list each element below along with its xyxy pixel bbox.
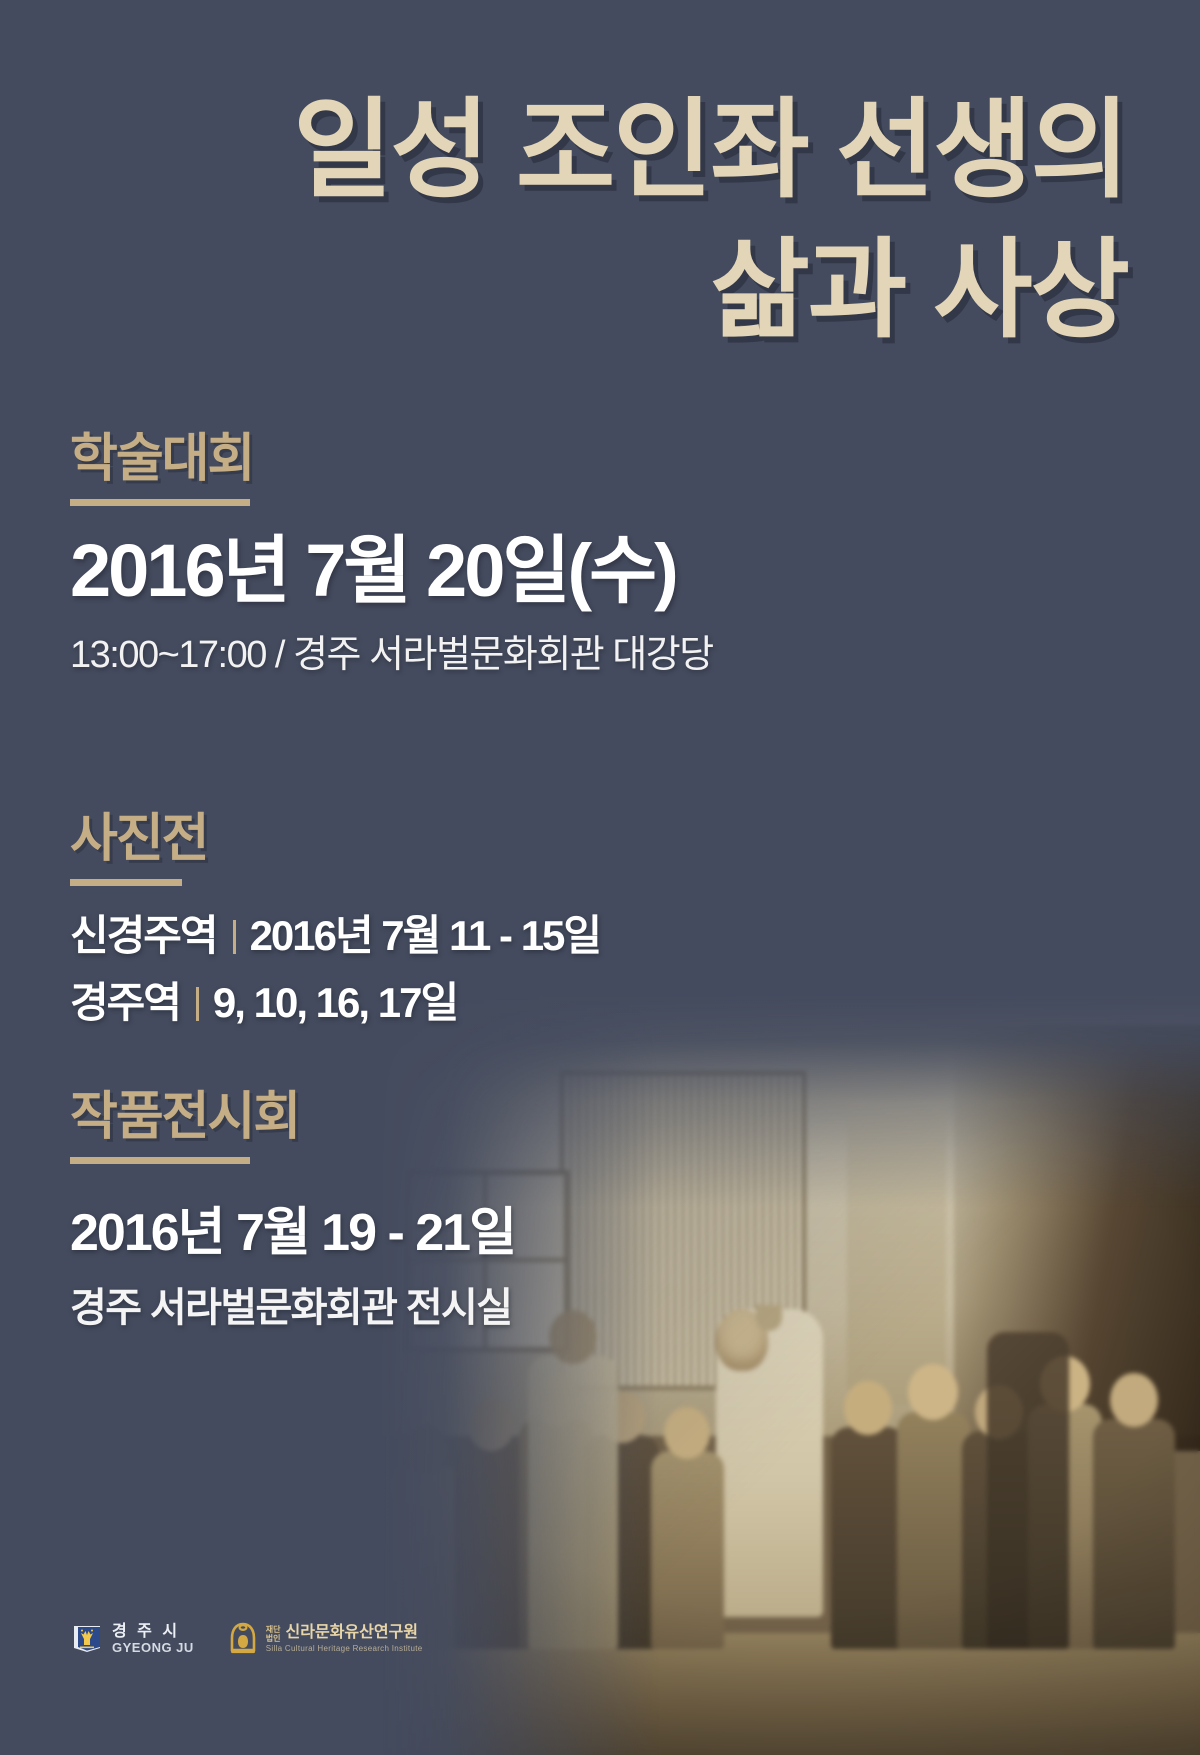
section-artwork-exhibition-place: 경주 서라벌문화회관 전시실 xyxy=(70,1275,515,1333)
silla-name-en: Silla Cultural Heritage Research Institu… xyxy=(266,1645,423,1653)
poster-title-line-2: 삶과 사상 xyxy=(711,236,1128,344)
gyeongju-logo-text: 경 주 시 GYEONG JU xyxy=(112,1624,194,1654)
silla-prefix: 재단 법인 xyxy=(266,1625,281,1643)
section-conference-detail: 13:00~17:00 / 경주 서라벌문화회관 대강당 xyxy=(70,623,713,678)
poster-title-line-1: 일성 조인좌 선생의 xyxy=(293,96,1128,204)
section-photo-exhibition: 사진전 신경주역 2016년 7월 11 - 15일 경주역 9, 10, 16… xyxy=(70,812,600,1030)
section-photo-exhibition-rule xyxy=(70,879,182,886)
venue-name: 신경주역 xyxy=(70,902,217,963)
section-conference-date: 2016년 7월 20일(수) xyxy=(70,532,713,610)
venue-dates: 9, 10, 16, 17일 xyxy=(213,969,457,1030)
section-artwork-exhibition: 작품전시회 2016년 7월 19 - 21일 경주 서라벌문화회관 전시실 xyxy=(70,1090,515,1333)
logo-gyeongju-city: 경 주 시 GYEONG JU xyxy=(70,1622,194,1656)
section-conference-heading: 학술대회 xyxy=(70,432,713,487)
silla-bell-icon xyxy=(228,1622,258,1656)
section-artwork-exhibition-date: 2016년 7월 19 - 21일 xyxy=(70,1190,515,1265)
logo-silla-institute: 재단 법인 신라문화유산연구원 Silla Cultural Heritage … xyxy=(228,1622,423,1656)
silla-prefix-line1: 재단 xyxy=(266,1625,281,1634)
poster-root: 일성 조인좌 선생의 삶과 사상 학술대회 2016년 7월 20일(수) 13… xyxy=(0,0,1200,1755)
section-photo-exhibition-heading: 사진전 xyxy=(70,812,600,867)
gyeongju-crown-icon xyxy=(70,1622,104,1656)
venue-separator xyxy=(233,920,236,954)
silla-top-row: 재단 법인 신라문화유산연구원 xyxy=(266,1625,423,1643)
section-artwork-exhibition-rule xyxy=(70,1157,250,1164)
venue-row: 경주역 9, 10, 16, 17일 xyxy=(70,969,600,1030)
silla-prefix-line2: 법인 xyxy=(266,1634,281,1643)
gyeongju-name-ko: 경 주 시 xyxy=(112,1624,194,1641)
venue-row: 신경주역 2016년 7월 11 - 15일 xyxy=(70,902,600,963)
venue-dates: 2016년 7월 11 - 15일 xyxy=(250,902,601,963)
venue-name: 경주역 xyxy=(70,969,180,1030)
gyeongju-name-en: GYEONG JU xyxy=(112,1641,194,1655)
venue-separator xyxy=(196,987,199,1021)
section-conference: 학술대회 2016년 7월 20일(수) 13:00~17:00 / 경주 서라… xyxy=(70,432,713,678)
logo-bar: 경 주 시 GYEONG JU 재단 xyxy=(70,1622,422,1656)
poster-content: 일성 조인좌 선생의 삶과 사상 학술대회 2016년 7월 20일(수) 13… xyxy=(0,0,1200,1755)
silla-name-ko: 신라문화유산연구원 xyxy=(286,1625,418,1642)
silla-logo-text: 재단 법인 신라문화유산연구원 Silla Cultural Heritage … xyxy=(266,1625,423,1654)
section-conference-rule xyxy=(70,499,250,506)
section-artwork-exhibition-heading: 작품전시회 xyxy=(70,1090,515,1145)
